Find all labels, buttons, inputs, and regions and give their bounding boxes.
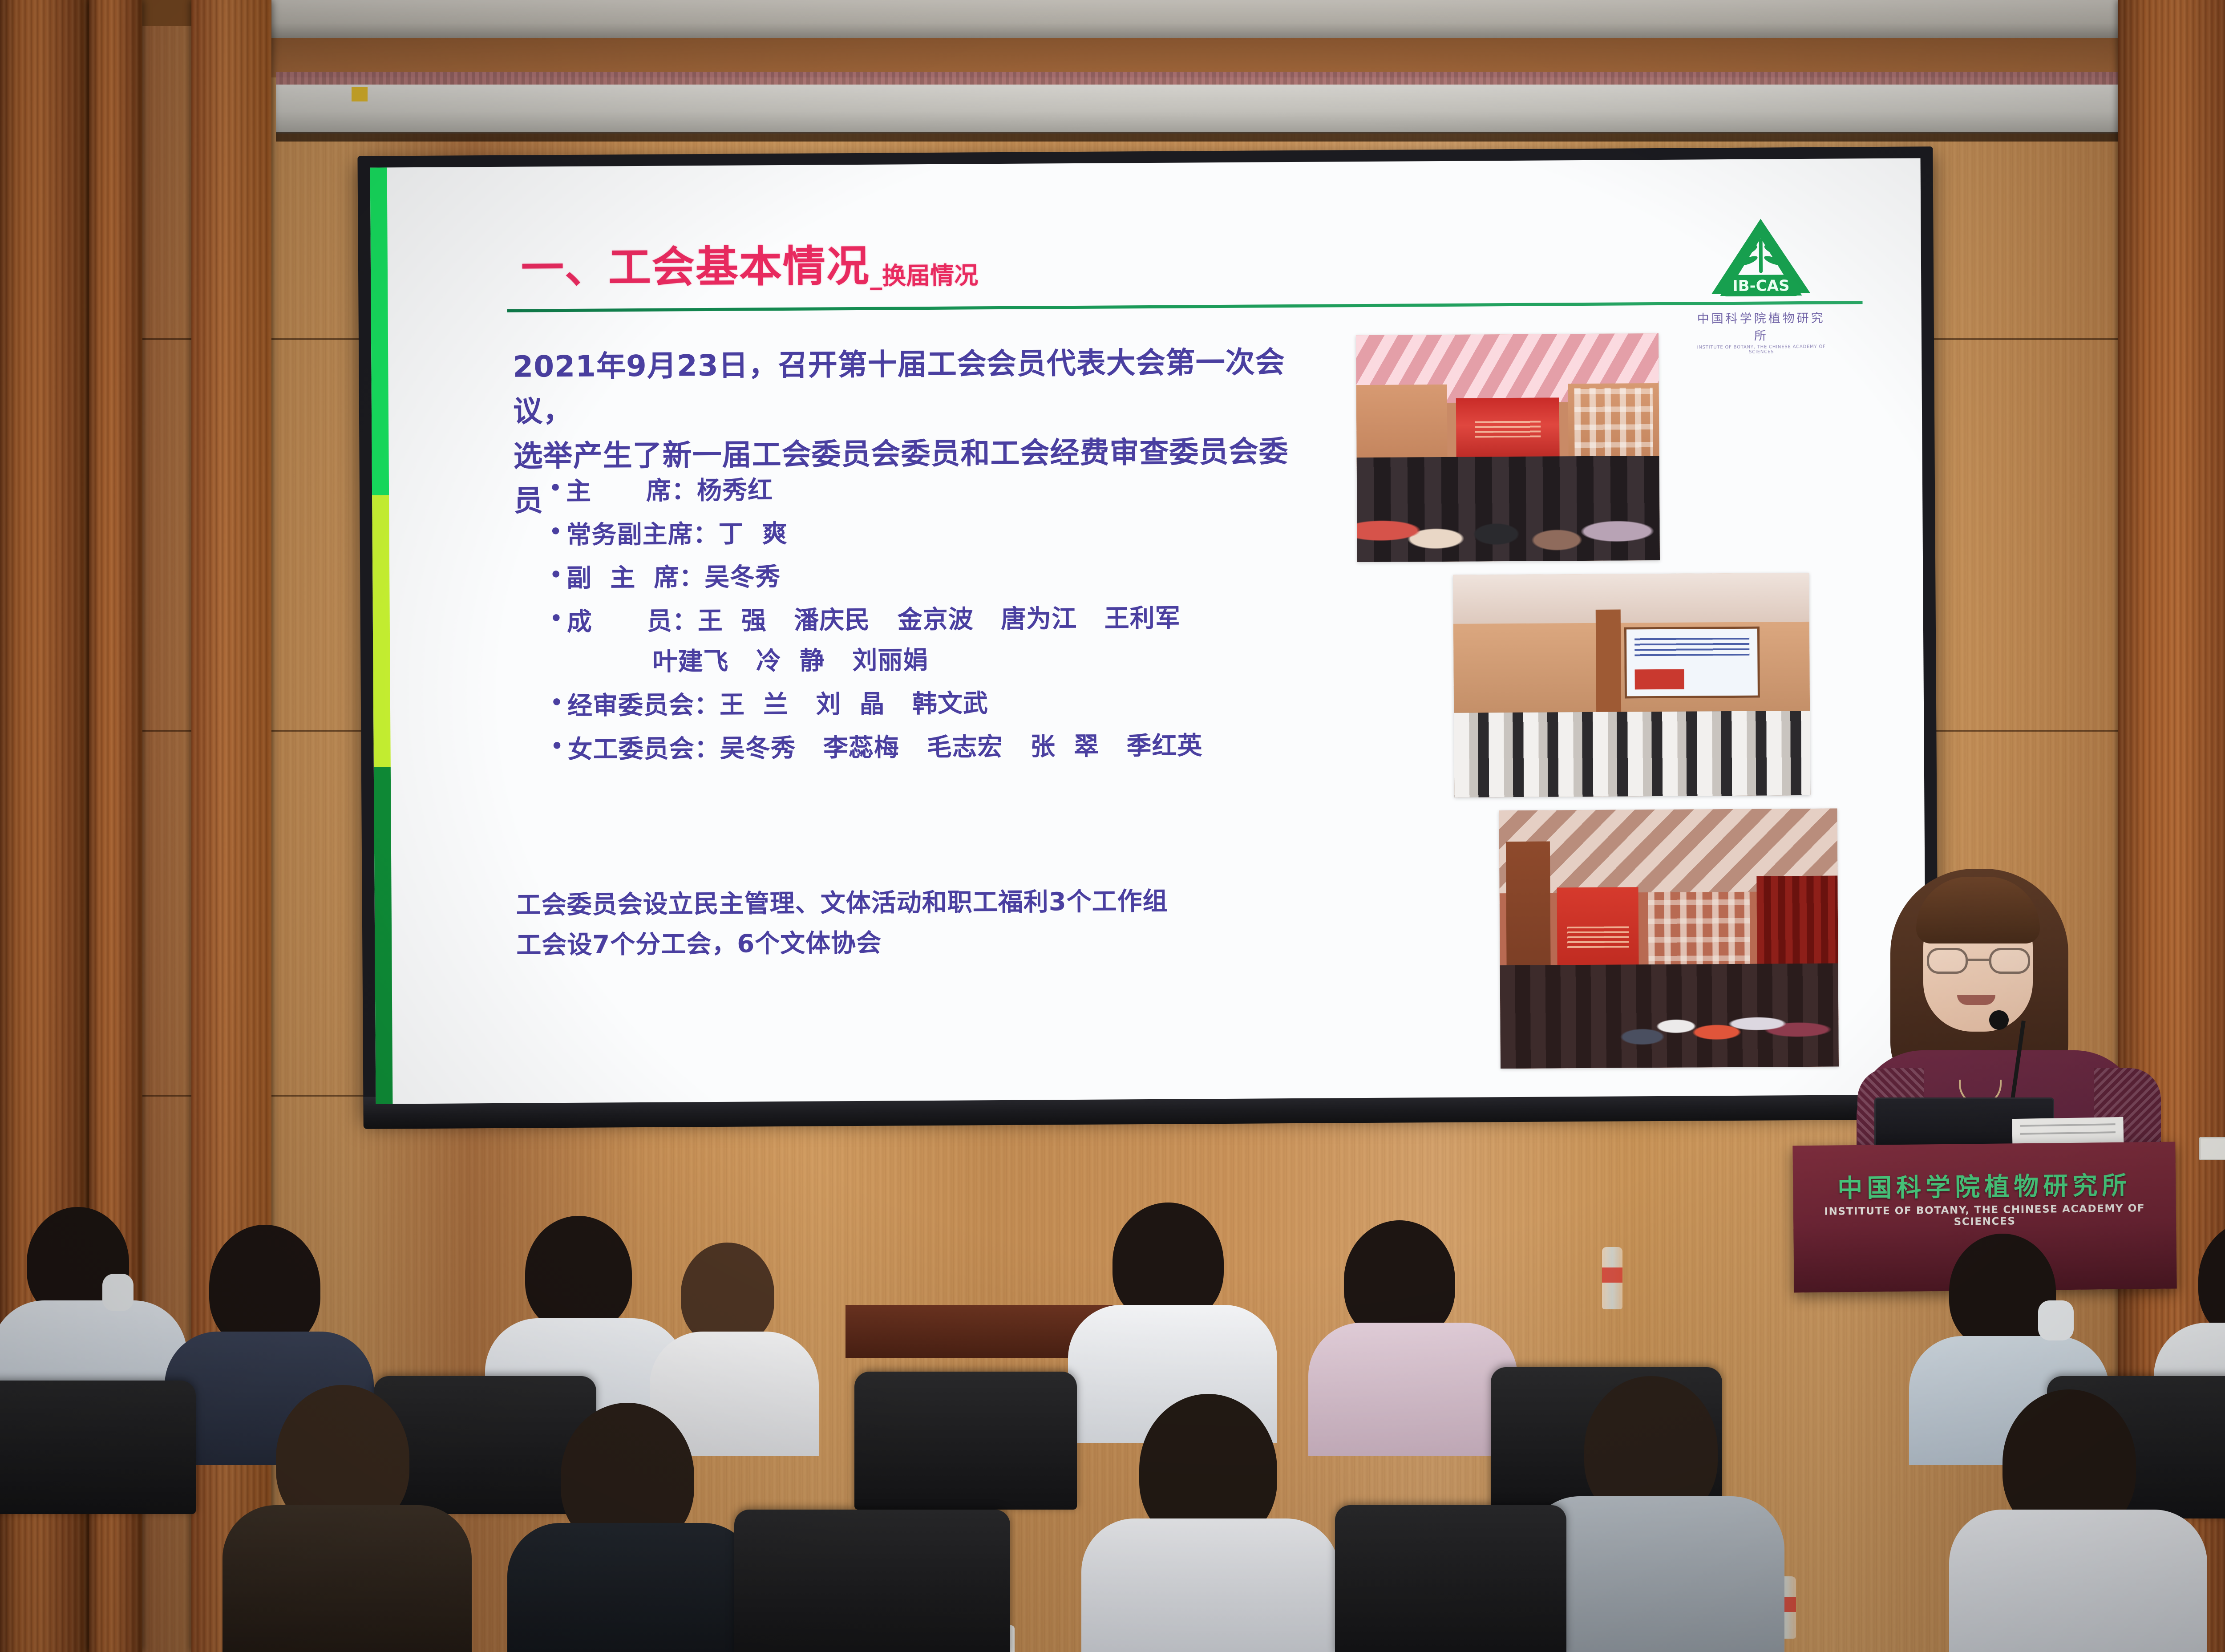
slide-title-main: 一、工会基本情况 — [521, 241, 870, 293]
ceiling-shadow — [276, 132, 2225, 142]
wall-outlet[interactable] — [2199, 1137, 2225, 1160]
list-item-text: 主 席：杨秀红 — [566, 477, 773, 505]
audience-shoulders — [507, 1523, 756, 1652]
list-item: • 常务副主席：丁 爽 — [549, 516, 1395, 549]
bullet-marker: • — [550, 608, 567, 629]
edge-bar-dark-green — [374, 767, 393, 1104]
logo-org-name-cn: 中国科学院植物研究所 — [1695, 308, 1828, 344]
slide-title-sub: _换届情况 — [870, 261, 978, 290]
edge-bar-yellow-green — [372, 495, 391, 767]
list-item: • 女工委员会：吴冬秀 李蕊梅 毛志宏 张 翠 季红英 — [550, 731, 1396, 763]
intro-line-1: 2021年9月23日，召开第十届工会会员代表大会第一次会议， — [513, 340, 1314, 434]
svg-text:IB-CAS: IB-CAS — [1732, 277, 1790, 295]
audience-chair — [0, 1381, 196, 1514]
title-underline-rule — [507, 301, 1863, 312]
footer-line-2: 工会设7个分工会，6个文体协会 — [516, 921, 1168, 965]
list-item: • 主 席：杨秀红 — [549, 473, 1395, 506]
edge-bar-bright-green — [370, 167, 389, 495]
list-item-text: 成 员：王 强 潘庆民 金京波 唐为江 王利军 — [567, 604, 1181, 636]
institute-logo: IB-CAS 中国科学院植物研究所 INSTITUTE OF BOTANY, T… — [1694, 212, 1828, 355]
list-item-text: 经审委员会：王 兰 刘 晶 韩文武 — [567, 690, 988, 720]
audience-shoulders — [1949, 1510, 2207, 1652]
logo-org-name-en: INSTITUTE OF BOTANY, THE CHINESE ACADEMY… — [1695, 344, 1828, 355]
microphone-icon — [1989, 1010, 2009, 1030]
audience-head — [525, 1216, 632, 1332]
ceiling-white-panel — [276, 85, 2225, 134]
bullet-marker: • — [549, 478, 566, 498]
water-bottle — [1602, 1247, 1622, 1309]
face-mask — [2038, 1300, 2074, 1340]
list-item-text: 女工委员会：吴冬秀 李蕊梅 毛志宏 张 翠 季红英 — [567, 732, 1202, 763]
audience-head — [209, 1225, 320, 1349]
presentation-slide: 一、工会基本情况_换届情况 IB-CAS — [370, 158, 1926, 1104]
audience-shoulders — [222, 1505, 472, 1652]
audience-chair — [854, 1372, 1077, 1510]
slide-photo-seminar-room — [1453, 573, 1810, 798]
bullet-marker: • — [550, 692, 567, 713]
list-item-text: 副 主 席：吴冬秀 — [566, 563, 781, 592]
list-item: • 副 主 席：吴冬秀 — [550, 560, 1395, 592]
bullet-marker: • — [549, 522, 566, 542]
ib-cas-logo-icon: IB-CAS — [1705, 212, 1816, 307]
audience-shoulders — [1308, 1323, 1517, 1456]
ceiling-light-panel — [267, 0, 2225, 38]
slide-bullet-list: • 主 席：杨秀红 • 常务副主席：丁 爽 • 副 主 席：吴冬秀 • 成 — [549, 473, 1396, 780]
list-item-text: 叶建飞 冷 静 刘丽娟 — [567, 647, 928, 676]
audience-chair — [734, 1510, 1010, 1652]
slide-title: 一、工会基本情况_换届情况 — [521, 231, 979, 295]
audience-shoulders — [1081, 1518, 1339, 1652]
list-item: • 成 员：王 强 潘庆民 金京波 唐为江 王利军 — [550, 603, 1396, 636]
slide-footer-notes: 工会委员会设立民主管理、文体活动和职工福利3个工作组 工会设7个分工会，6个文体… — [516, 882, 1168, 965]
face-mask — [102, 1274, 133, 1311]
slide-photo-conference-hall — [1356, 333, 1660, 562]
ceiling-marker — [352, 87, 368, 101]
bullet-marker: • — [550, 565, 566, 585]
audience-seating-area — [0, 1198, 2225, 1652]
footer-line-1: 工会委员会设立民主管理、文体活动和职工福利3个工作组 — [516, 882, 1168, 926]
list-item-text: 常务副主席：丁 爽 — [566, 520, 787, 549]
slide-photo-red-banner-hall — [1499, 809, 1839, 1069]
ceiling-wood-band — [267, 38, 2225, 77]
presenter-mouth — [1957, 995, 1995, 1005]
list-item: • 经审委员会：王 兰 刘 晶 韩文武 — [550, 688, 1396, 720]
list-item-continuation: 叶建飞 冷 静 刘丽娟 — [550, 644, 1396, 676]
audience-chair — [1335, 1505, 1566, 1652]
conference-room-scene: 一、工会基本情况_换届情况 IB-CAS — [0, 0, 2225, 1652]
bullet-marker: • — [550, 736, 567, 757]
audience-head — [681, 1243, 774, 1345]
projection-screen: 一、工会基本情况_换届情况 IB-CAS — [357, 146, 1938, 1118]
presenter-glasses — [1927, 948, 2030, 974]
